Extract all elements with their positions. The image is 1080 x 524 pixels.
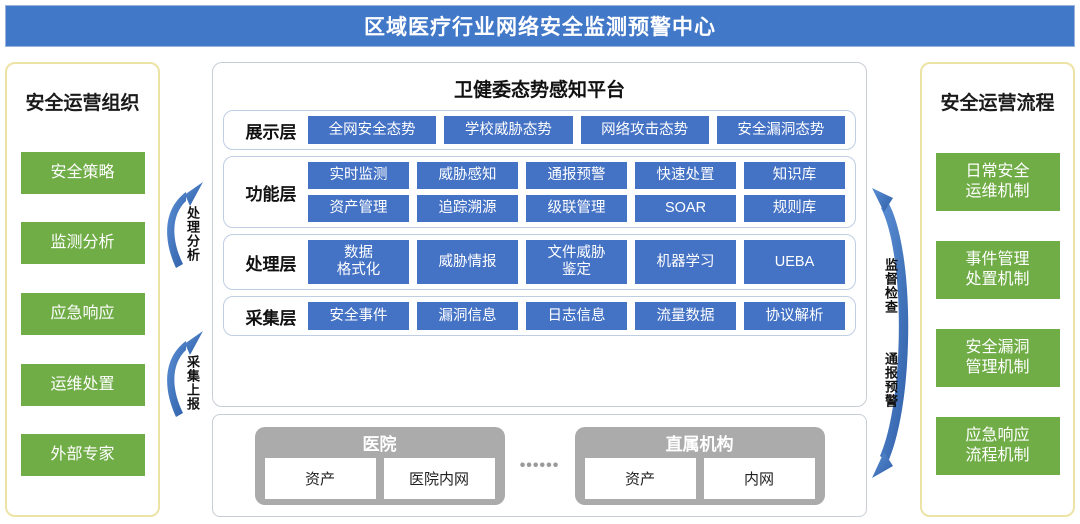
display-chip-3[interactable]: 安全漏洞态势 (717, 116, 845, 144)
process-chip-1-line1: 威胁情报 (439, 254, 497, 271)
right-item-2-line2: 管理机制 (965, 358, 1029, 378)
layer-items-function: 实时监测 威胁感知 通报预警 快速处置 知识库 (308, 162, 845, 222)
process-chip-4-line1: UEBA (775, 254, 815, 271)
display-chip-1[interactable]: 学校威胁态势 (444, 116, 572, 144)
function-chip-0-0-label: 实时监测 (330, 167, 388, 184)
platform-card: 卫健委态势感知平台 展示层 全网安全态势 学校威胁态势 网络攻击态势 安全漏洞态… (212, 62, 867, 407)
display-chip-2[interactable]: 网络攻击态势 (581, 116, 709, 144)
org-hospital-children: 资产 医院内网 (255, 458, 505, 505)
function-chip-1-4-label: 规则库 (773, 200, 817, 217)
left-item-4-label: 外部专家 (50, 445, 114, 465)
function-chip-1-0[interactable]: 资产管理 (308, 195, 409, 222)
process-chip-1[interactable]: 威胁情报 (417, 240, 518, 284)
process-chip-2-line2: 鉴定 (562, 262, 591, 279)
process-chip-0-line2: 格式化 (337, 262, 381, 279)
right-item-1-line1: 事件管理 (965, 250, 1029, 270)
collect-chip-4[interactable]: 协议解析 (744, 302, 845, 330)
page-title: 区域医疗行业网络安全监测预警中心 (364, 11, 716, 41)
right-item-1[interactable]: 事件管理 处置机制 (936, 241, 1060, 299)
right-item-2-line1: 安全漏洞 (965, 338, 1029, 358)
left-item-2[interactable]: 应急响应 (21, 293, 145, 335)
function-chip-0-4-label: 知识库 (773, 167, 817, 184)
layer-row-display: 展示层 全网安全态势 学校威胁态势 网络攻击态势 安全漏洞态势 (223, 110, 856, 150)
left-item-1[interactable]: 监测分析 (21, 222, 145, 264)
arrow-label-supervision-inspection: 监督检查 (884, 258, 897, 314)
display-chip-3-label: 安全漏洞态势 (737, 122, 824, 139)
right-panel-title: 安全运营流程 (940, 88, 1054, 115)
org-direct-agency-child-0[interactable]: 资产 (585, 458, 696, 499)
display-chip-0[interactable]: 全网安全态势 (308, 116, 436, 144)
function-chip-0-1[interactable]: 威胁感知 (417, 162, 518, 189)
collect-chip-0-label: 安全事件 (330, 308, 388, 325)
org-direct-agency-children: 资产 内网 (575, 458, 825, 505)
function-chip-1-4[interactable]: 规则库 (744, 195, 845, 222)
process-chip-0-line1: 数据 (344, 245, 373, 262)
layer-items-process: 数据 格式化 威胁情报 文件威胁 鉴定 机器学习 UEBA (308, 240, 845, 284)
layer-label-function: 功能层 (234, 180, 308, 205)
function-line-1: 资产管理 追踪溯源 级联管理 SOAR 规则库 (308, 195, 845, 222)
function-chip-1-1[interactable]: 追踪溯源 (417, 195, 518, 222)
collect-chip-2[interactable]: 日志信息 (526, 302, 627, 330)
right-item-0-line2: 运维机制 (965, 182, 1029, 202)
function-chip-1-2[interactable]: 级联管理 (526, 195, 627, 222)
function-chip-1-2-label: 级联管理 (548, 200, 606, 217)
left-item-3[interactable]: 运维处置 (21, 364, 145, 406)
right-item-0[interactable]: 日常安全 运维机制 (936, 153, 1060, 211)
collect-chip-2-label: 日志信息 (548, 308, 606, 325)
left-item-2-label: 应急响应 (50, 304, 114, 324)
org-box-direct-agency[interactable]: 直属机构 资产 内网 (575, 427, 825, 505)
function-chip-0-2-label: 通报预警 (548, 167, 606, 184)
function-chip-0-4[interactable]: 知识库 (744, 162, 845, 189)
diagram-root: 区域医疗行业网络安全监测预警中心 安全运营组织 安全策略 监测分析 应急响应 运… (0, 0, 1080, 524)
institutions-ellipsis: •••••• (505, 457, 575, 475)
collect-chip-0[interactable]: 安全事件 (308, 302, 409, 330)
institutions-card: 医院 资产 医院内网 •••••• 直属机构 资产 内网 (212, 414, 867, 517)
center-column: 卫健委态势感知平台 展示层 全网安全态势 学校威胁态势 网络攻击态势 安全漏洞态… (212, 62, 867, 517)
left-panel-items: 安全策略 监测分析 应急响应 运维处置 外部专家 (7, 123, 158, 515)
process-chip-2[interactable]: 文件威胁 鉴定 (526, 240, 627, 284)
layer-row-function: 功能层 实时监测 威胁感知 通报预警 快速处置 (223, 156, 856, 228)
collect-chip-4-label: 协议解析 (766, 308, 824, 325)
org-box-hospital[interactable]: 医院 资产 医院内网 (255, 427, 505, 505)
function-chip-1-3[interactable]: SOAR (635, 195, 736, 222)
process-chip-0[interactable]: 数据 格式化 (308, 240, 409, 284)
left-panel-title: 安全运营组织 (25, 88, 139, 115)
function-chip-0-3-label: 快速处置 (657, 167, 715, 184)
org-direct-agency-title: 直属机构 (666, 430, 734, 455)
org-direct-agency-child-1[interactable]: 内网 (704, 458, 815, 499)
layer-label-process: 处理层 (234, 250, 308, 275)
layer-items-collect: 安全事件 漏洞信息 日志信息 流量数据 协议解析 (308, 302, 845, 330)
platform-title: 卫健委态势感知平台 (223, 75, 856, 102)
display-chip-1-label: 学校威胁态势 (465, 122, 552, 139)
layer-row-process: 处理层 数据 格式化 威胁情报 文件威胁 鉴定 机器学习 (223, 234, 856, 290)
arrow-label-process-analysis: 处理分析 (186, 206, 199, 262)
left-item-3-label: 运维处置 (50, 375, 114, 395)
function-chip-1-1-label: 追踪溯源 (439, 200, 497, 217)
left-item-0[interactable]: 安全策略 (21, 152, 145, 194)
display-chip-2-label: 网络攻击态势 (601, 122, 688, 139)
collect-chip-1-label: 漏洞信息 (439, 308, 497, 325)
left-item-4[interactable]: 外部专家 (21, 434, 145, 476)
right-item-3-line2: 流程机制 (965, 446, 1029, 466)
display-chip-0-label: 全网安全态势 (329, 122, 416, 139)
right-item-3[interactable]: 应急响应 流程机制 (936, 417, 1060, 475)
function-chip-1-3-label: SOAR (665, 200, 706, 217)
right-panel-items: 日常安全 运维机制 事件管理 处置机制 安全漏洞 管理机制 应急响应 流程机制 (922, 123, 1073, 515)
arrow-label-collect-report: 采集上报 (186, 355, 199, 411)
process-chip-4[interactable]: UEBA (744, 240, 845, 284)
left-item-0-label: 安全策略 (50, 163, 114, 183)
page-title-banner: 区域医疗行业网络安全监测预警中心 (5, 5, 1075, 47)
function-line-0: 实时监测 威胁感知 通报预警 快速处置 知识库 (308, 162, 845, 189)
right-double-curved-arrow-icon (872, 188, 908, 478)
function-chip-0-1-label: 威胁感知 (439, 167, 497, 184)
right-item-1-line2: 处置机制 (965, 270, 1029, 290)
collect-chip-3-label: 流量数据 (657, 308, 715, 325)
layer-label-display: 展示层 (234, 118, 308, 143)
function-chip-0-0[interactable]: 实时监测 (308, 162, 409, 189)
right-item-2[interactable]: 安全漏洞 管理机制 (936, 329, 1060, 387)
org-hospital-child-0[interactable]: 资产 (265, 458, 376, 499)
left-panel-security-operations-org: 安全运营组织 安全策略 监测分析 应急响应 运维处置 外部专家 (5, 62, 160, 517)
layer-items-display: 全网安全态势 学校威胁态势 网络攻击态势 安全漏洞态势 (308, 116, 845, 144)
function-chip-1-0-label: 资产管理 (330, 200, 388, 217)
process-chip-2-line1: 文件威胁 (548, 245, 606, 262)
org-hospital-child-1[interactable]: 医院内网 (384, 458, 495, 499)
org-hospital-title: 医院 (363, 430, 397, 455)
function-chip-0-3[interactable]: 快速处置 (635, 162, 736, 189)
collect-chip-1[interactable]: 漏洞信息 (417, 302, 518, 330)
right-item-0-line1: 日常安全 (965, 162, 1029, 182)
right-panel-security-operations-process: 安全运营流程 日常安全 运维机制 事件管理 处置机制 安全漏洞 管理机制 应急响… (920, 62, 1075, 517)
layer-label-collect: 采集层 (234, 304, 308, 329)
function-chip-0-2[interactable]: 通报预警 (526, 162, 627, 189)
process-chip-3[interactable]: 机器学习 (635, 240, 736, 284)
collect-chip-3[interactable]: 流量数据 (635, 302, 736, 330)
right-item-3-line1: 应急响应 (965, 426, 1029, 446)
arrow-label-notification-warning: 通报预警 (884, 352, 897, 408)
left-item-1-label: 监测分析 (50, 233, 114, 253)
process-chip-3-line1: 机器学习 (657, 254, 715, 271)
layer-row-collect: 采集层 安全事件 漏洞信息 日志信息 流量数据 协议解析 (223, 296, 856, 336)
